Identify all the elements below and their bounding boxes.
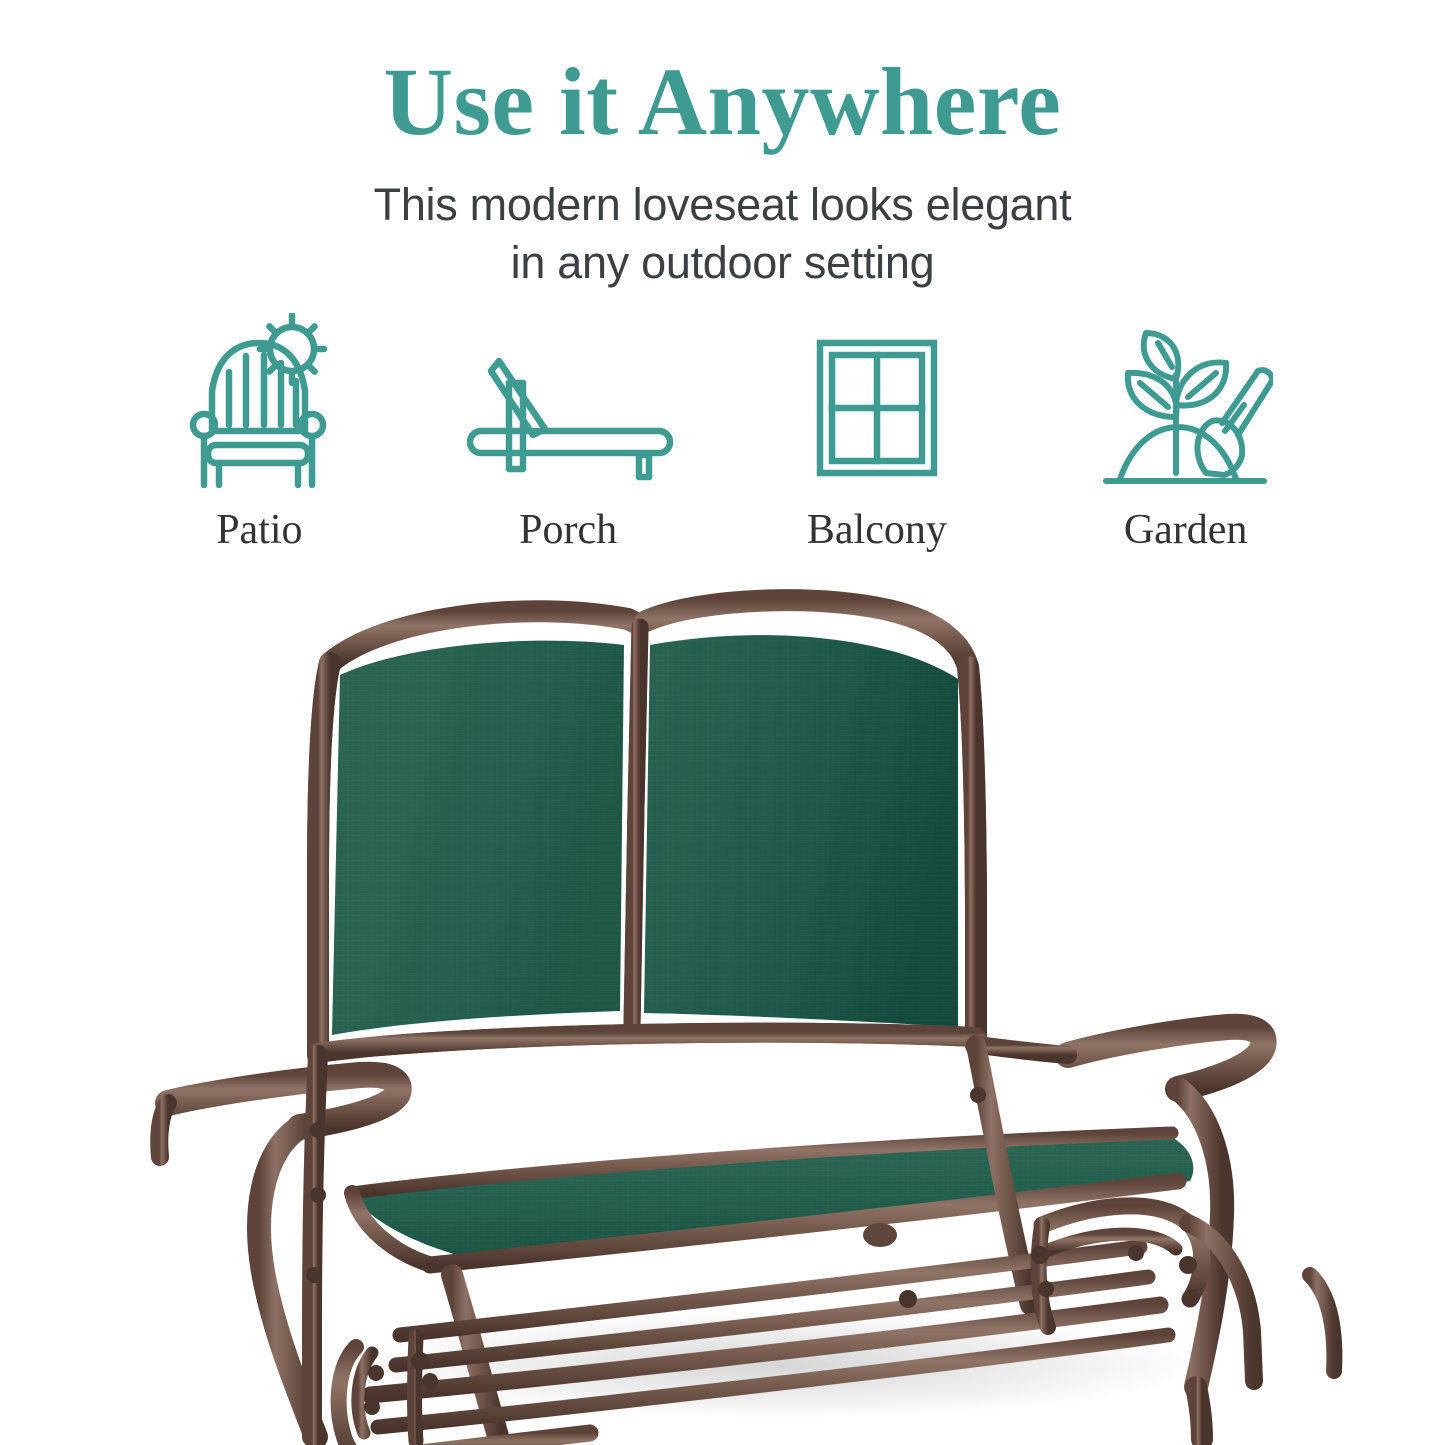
glide-foot-left bbox=[352, 1433, 590, 1445]
seat-center-knob bbox=[863, 1223, 897, 1247]
product-photo bbox=[0, 575, 1445, 1445]
subtitle-line-2: in any outdoor setting bbox=[0, 234, 1445, 292]
chaise-lounge-icon bbox=[463, 311, 673, 491]
armrest-right bbox=[1068, 1027, 1264, 1089]
feature-icon-row: Patio Porch bbox=[0, 311, 1445, 551]
feature-label-balcony: Balcony bbox=[807, 509, 947, 551]
subtitle-line-1: This modern loveseat looks elegant bbox=[0, 176, 1445, 234]
feature-label-porch: Porch bbox=[519, 509, 617, 551]
feature-item-balcony: Balcony bbox=[723, 311, 1032, 551]
feature-item-porch: Porch bbox=[414, 311, 723, 551]
page-subtitle: This modern loveseat looks elegant in an… bbox=[0, 176, 1445, 291]
plant-trowel-icon bbox=[1098, 311, 1273, 491]
page-title: Use it Anywhere bbox=[0, 0, 1445, 150]
feature-label-garden: Garden bbox=[1124, 509, 1248, 551]
window-pane-icon bbox=[802, 311, 952, 491]
adirondack-chair-sun-icon bbox=[184, 311, 334, 491]
leg-front-right bbox=[1196, 1387, 1202, 1439]
feature-label-patio: Patio bbox=[216, 509, 302, 551]
feature-item-patio: Patio bbox=[105, 311, 414, 551]
armrest-left bbox=[168, 1075, 399, 1127]
feature-item-garden: Garden bbox=[1031, 311, 1340, 551]
